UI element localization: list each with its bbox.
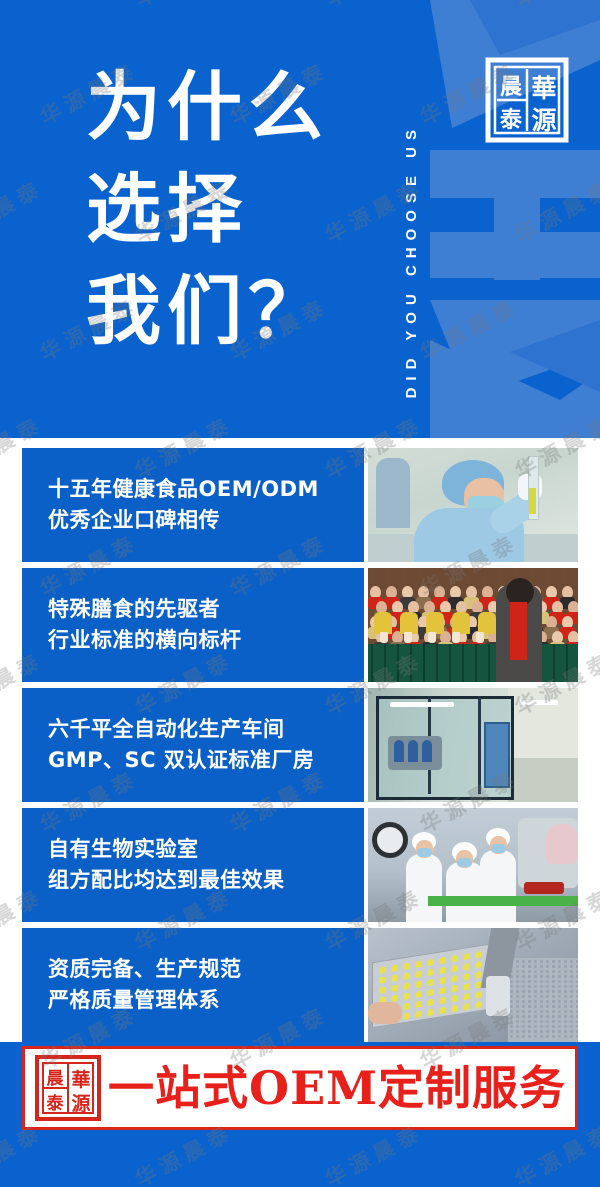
blister-tablet-machine-photo [368, 928, 578, 1042]
feature-card-text: 六千平全自动化生产车间 GMP、SC 双认证标准厂房 [22, 688, 364, 802]
title-line-3: 我们？ [86, 260, 329, 362]
feature-card-text: 特殊膳食的先驱者 行业标准的横向标杆 [22, 568, 364, 682]
feature-line: 资质完备、生产规范 [48, 954, 364, 985]
conference-audience-photo [368, 568, 578, 682]
feature-card[interactable]: 特殊膳食的先驱者 行业标准的横向标杆 [22, 568, 578, 682]
seal-icon: 晨 華 泰 源 [484, 56, 570, 144]
svg-text:華: 華 [531, 74, 556, 103]
packaging-line-workers-photo [368, 808, 578, 922]
vertical-english-text: DID YOU CHOOSE US [403, 123, 420, 398]
feature-card-text: 十五年健康食品OEM/ODM 优秀企业口碑相传 [22, 448, 364, 562]
feature-card-list: 十五年健康食品OEM/ODM 优秀企业口碑相传 特殊膳食的先驱者 行业标准的横向… [22, 448, 578, 1048]
feature-card[interactable]: 十五年健康食品OEM/ODM 优秀企业口碑相传 [22, 448, 578, 562]
svg-text:泰: 泰 [47, 1093, 65, 1114]
feature-line: 十五年健康食品OEM/ODM [48, 474, 364, 505]
red-seal-icon: 晨 華 泰 源 [34, 1054, 102, 1122]
poster-root: 为什么 选择 我们？ DID YOU CHOOSE US 晨 華 泰 源 [0, 0, 600, 1187]
svg-text:泰: 泰 [499, 107, 523, 133]
svg-text:晨: 晨 [47, 1069, 65, 1089]
feature-line: 自有生物实验室 [48, 834, 364, 865]
svg-text:晨: 晨 [500, 74, 523, 100]
svg-text:源: 源 [71, 1092, 90, 1115]
page-title: 为什么 选择 我们？ [86, 56, 329, 362]
brand-seal-logo: 晨 華 泰 源 [484, 56, 570, 144]
feature-line: 六千平全自动化生产车间 [48, 714, 364, 745]
feature-card[interactable]: 六千平全自动化生产车间 GMP、SC 双认证标准厂房 [22, 688, 578, 802]
bottom-cta-banner[interactable]: 晨 華 泰 源 一站式OEM定制服务 [22, 1046, 578, 1130]
banner-headline: 一站式OEM定制服务 [108, 1065, 566, 1111]
hero-section: 为什么 选择 我们？ DID YOU CHOOSE US 晨 華 泰 源 [0, 0, 600, 438]
lab-technician-photo [368, 448, 578, 562]
svg-text:源: 源 [531, 106, 556, 135]
title-line-1: 为什么 [86, 56, 329, 158]
feature-card[interactable]: 自有生物实验室 组方配比均达到最佳效果 [22, 808, 578, 922]
feature-line: 严格质量管理体系 [48, 985, 364, 1016]
feature-card[interactable]: 资质完备、生产规范 严格质量管理体系 [22, 928, 578, 1042]
title-line-2: 选择 [86, 158, 329, 260]
feature-line: 行业标准的横向标杆 [48, 625, 364, 656]
cleanroom-corridor-photo [368, 688, 578, 802]
feature-card-text: 资质完备、生产规范 严格质量管理体系 [22, 928, 364, 1042]
vertical-english-tagline: DID YOU CHOOSE US [398, 22, 424, 398]
feature-line: 特殊膳食的先驱者 [48, 594, 364, 625]
svg-text:華: 華 [71, 1068, 90, 1091]
feature-line: 优秀企业口碑相传 [48, 505, 364, 536]
feature-line: 组方配比均达到最佳效果 [48, 865, 364, 896]
feature-card-text: 自有生物实验室 组方配比均达到最佳效果 [22, 808, 364, 922]
feature-line: GMP、SC 双认证标准厂房 [48, 745, 364, 776]
banner-seal-logo: 晨 華 泰 源 [34, 1054, 102, 1122]
